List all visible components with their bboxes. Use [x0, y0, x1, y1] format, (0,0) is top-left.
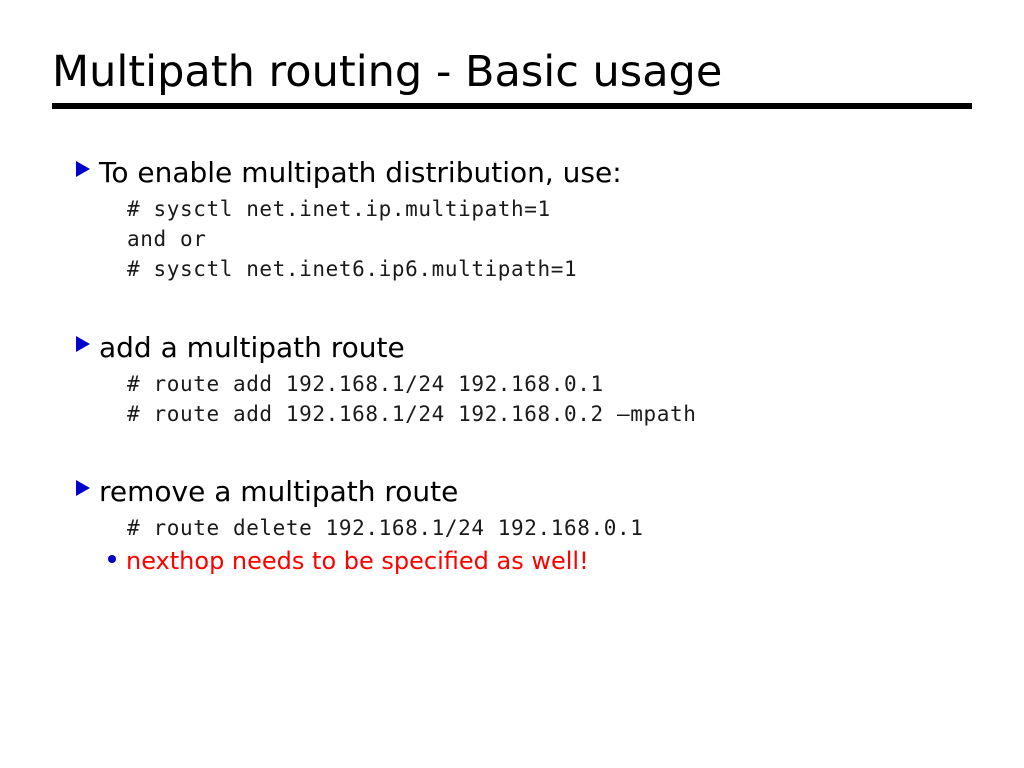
- code-block: # route delete 192.168.1/24 192.168.0.1: [127, 514, 986, 544]
- bullet-group-add-route: add a multipath route # route add 192.16…: [76, 330, 986, 430]
- spacer: [76, 302, 986, 330]
- bullet-label: To enable multipath distribution, use:: [99, 155, 622, 192]
- sub-bullet-item: nexthop needs to be specified as well!: [108, 546, 986, 577]
- slide-body: To enable multipath distribution, use: #…: [76, 155, 986, 595]
- title-underline-rule: [52, 103, 972, 109]
- slide-canvas: Multipath routing - Basic usage To enabl…: [0, 0, 1024, 768]
- sub-bullet-label: nexthop needs to be specified as well!: [126, 546, 589, 577]
- title-block: Multipath routing - Basic usage: [52, 48, 972, 109]
- code-line: and or: [127, 225, 986, 255]
- bullet-label: remove a multipath route: [99, 474, 458, 511]
- page-title: Multipath routing - Basic usage: [52, 48, 972, 97]
- code-block: # sysctl net.inet.ip.multipath=1 and or …: [127, 195, 986, 284]
- spacer: [76, 448, 986, 474]
- code-line: # sysctl net.inet.ip.multipath=1: [127, 195, 986, 225]
- code-block: # route add 192.168.1/24 192.168.0.1 # r…: [127, 370, 986, 430]
- code-line: # route add 192.168.1/24 192.168.0.2 –mp…: [127, 400, 986, 430]
- triangle-right-icon: [76, 480, 90, 496]
- bullet-item: remove a multipath route: [76, 474, 986, 511]
- bullet-group-remove-route: remove a multipath route # route delete …: [76, 474, 986, 577]
- code-line: # route delete 192.168.1/24 192.168.0.1: [127, 514, 986, 544]
- dot-icon: [108, 555, 116, 563]
- triangle-right-icon: [76, 336, 90, 352]
- bullet-group-enable-multipath: To enable multipath distribution, use: #…: [76, 155, 986, 284]
- bullet-label: add a multipath route: [99, 330, 405, 367]
- triangle-right-icon: [76, 161, 90, 177]
- code-line: # route add 192.168.1/24 192.168.0.1: [127, 370, 986, 400]
- bullet-item: To enable multipath distribution, use:: [76, 155, 986, 192]
- bullet-item: add a multipath route: [76, 330, 986, 367]
- code-line: # sysctl net.inet6.ip6.multipath=1: [127, 255, 986, 285]
